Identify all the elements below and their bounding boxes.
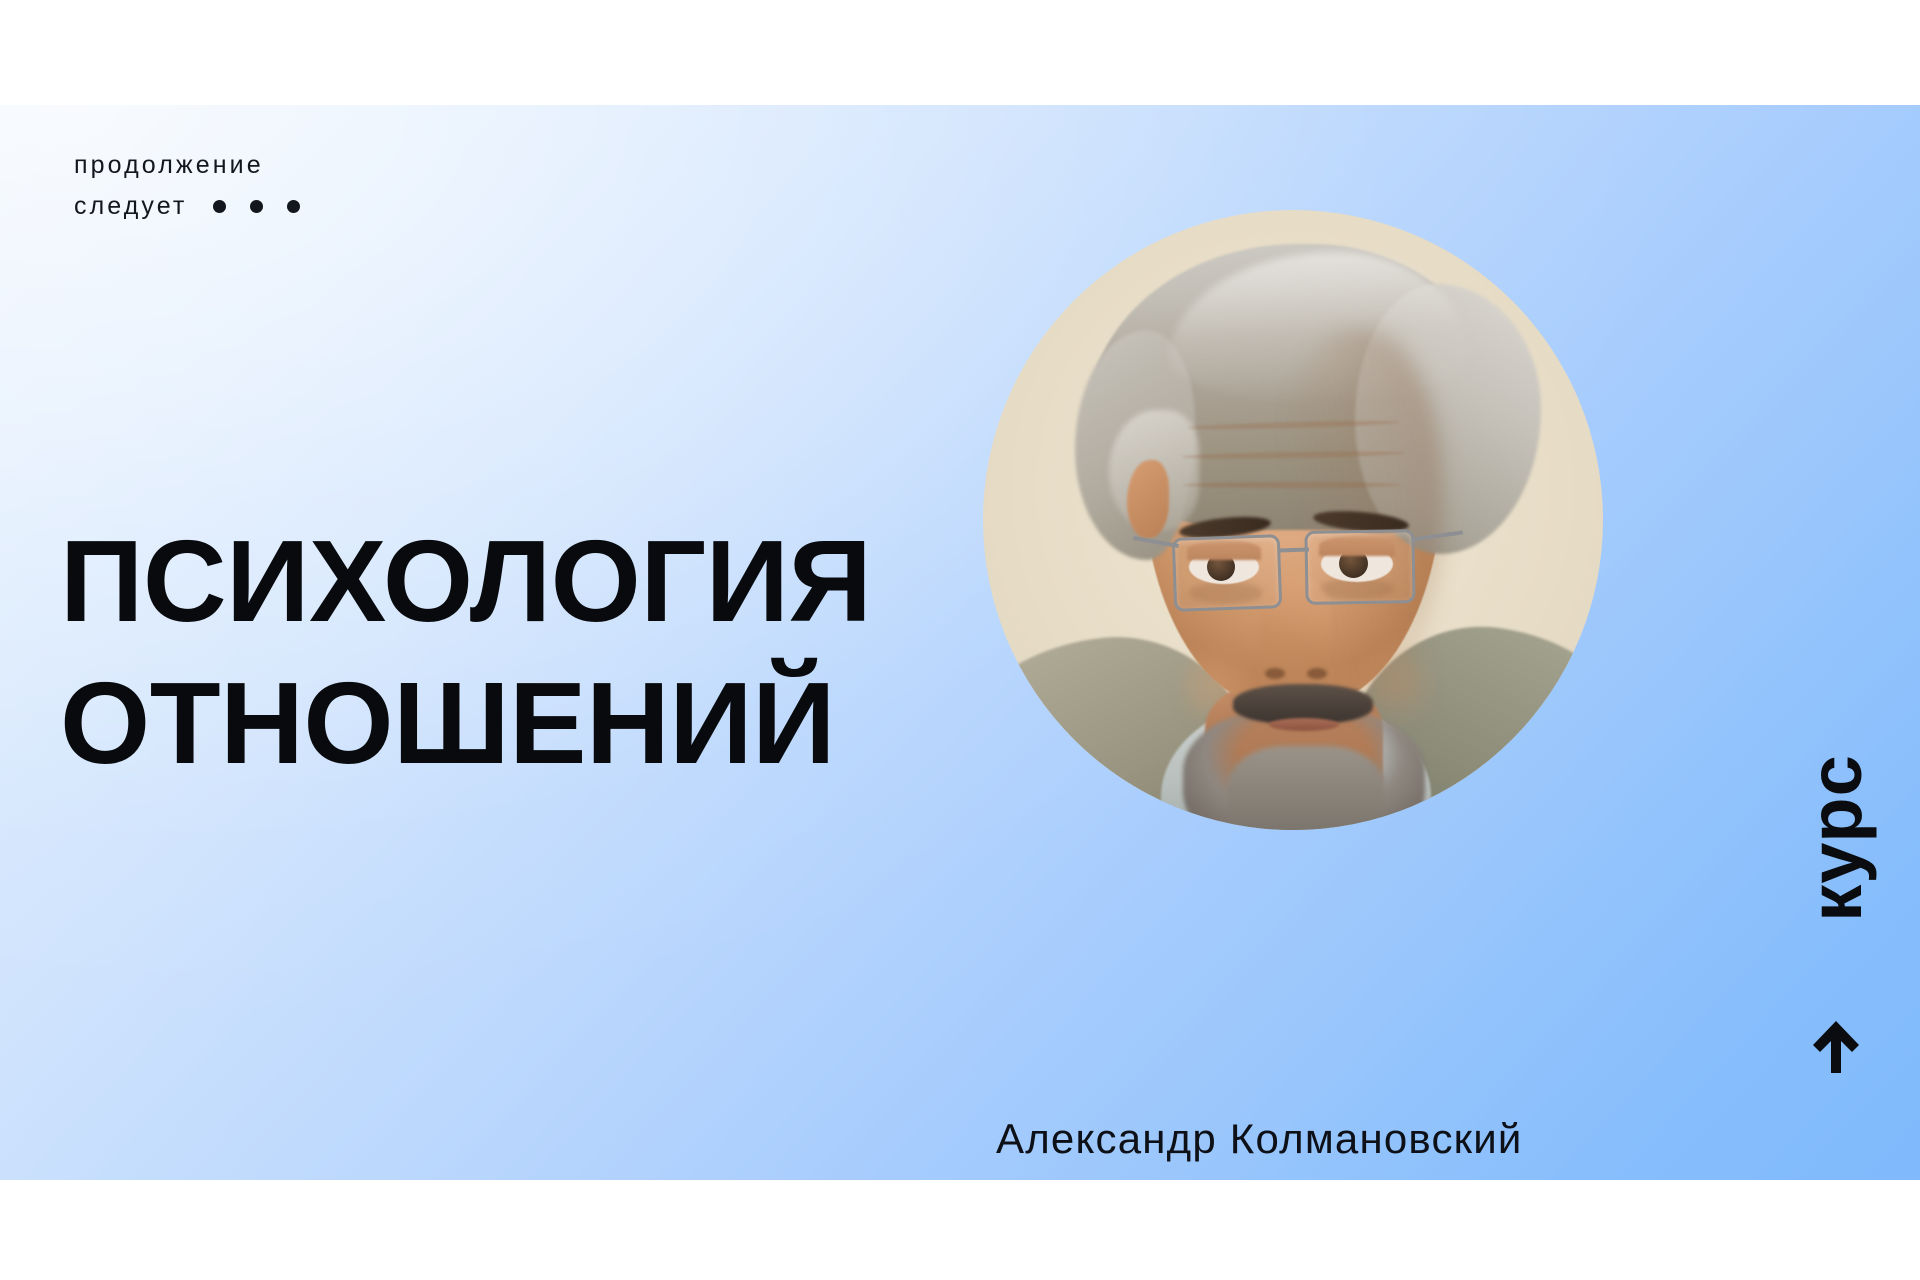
dot-1 (213, 200, 226, 213)
title-line-2: ОТНОШЕНИЙ (60, 652, 871, 794)
page-root: продолжение следует ПСИХОЛОГИЯ ОТНОШЕНИЙ (0, 0, 1920, 1280)
photo-ear-left (1127, 460, 1169, 538)
photo-lip (1269, 718, 1339, 731)
course-cover-banner: продолжение следует ПСИХОЛОГИЯ ОТНОШЕНИЙ (0, 105, 1920, 1180)
title-line-1: ПСИХОЛОГИЯ (60, 510, 871, 652)
speaker-portrait (983, 210, 1603, 830)
photo-nostril-right (1307, 668, 1327, 679)
kicker-line-2: следует (74, 186, 187, 227)
kicker-line-1: продолжение (74, 145, 300, 186)
arrow-right-icon (1807, 1019, 1865, 1077)
avatar (983, 210, 1603, 830)
photo-glasses-lens-left (1172, 534, 1283, 612)
kicker-line-2-row: следует (74, 186, 300, 227)
photo-glasses-lens-right (1304, 529, 1415, 605)
ellipsis-dots-icon (213, 200, 300, 213)
photo-nostril-left (1265, 668, 1285, 679)
photo-forehead-line-3 (1183, 482, 1401, 488)
photo-beard-chin (1227, 746, 1385, 830)
dot-3 (287, 200, 300, 213)
speaker-name: Александр Колмановский (996, 1115, 1523, 1163)
dot-2 (250, 200, 263, 213)
course-tag: курс (1786, 715, 1886, 1145)
course-tag-label: курс (1799, 754, 1873, 922)
page-title: ПСИХОЛОГИЯ ОТНОШЕНИЙ (60, 510, 871, 794)
kicker-text: продолжение следует (74, 145, 300, 227)
